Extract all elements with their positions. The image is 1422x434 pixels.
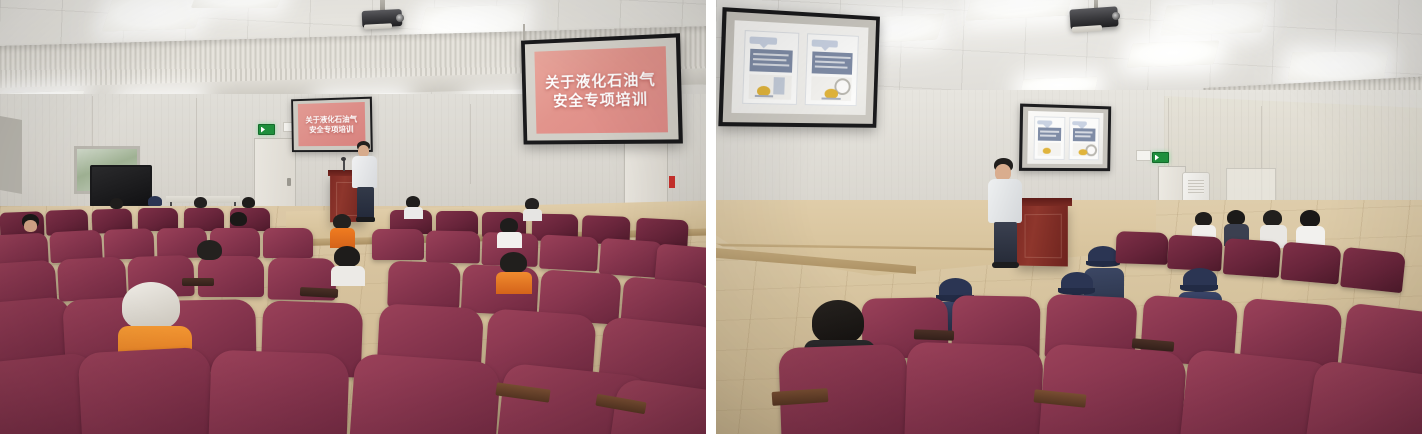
aux-panel-1-illustration [1038,143,1061,156]
attendee [523,198,543,218]
ceiling-light-4 [1127,41,1220,68]
presenter-shoes [992,262,1019,268]
illus-stand [755,95,773,97]
seat[interactable] [599,238,663,278]
presenter-shoes [356,217,375,222]
attendee-vest [330,228,355,248]
presenter-shirt [988,179,1022,223]
gas-cylinder-icon [1043,148,1051,154]
seat[interactable] [78,347,215,434]
illus-stand [821,97,840,99]
slide-panel-2 [805,33,859,106]
seat[interactable] [778,344,909,434]
attendee-hair [812,300,864,344]
ceiling-light-5 [1288,52,1389,80]
wall-seam-2 [196,98,197,204]
aux-slide: 关于液化石油气 安全专项培训 [298,102,366,146]
attendee-hair [1263,210,1282,226]
presenter-right [988,158,1026,270]
ceiling-light-1 [102,0,206,32]
attendee [194,240,228,274]
exit-sign-icon [1152,152,1169,163]
attendee [192,197,210,213]
aux-panel-1-text [1038,127,1061,141]
attendee-shirt [497,232,522,248]
projector-lens [396,14,404,22]
seat[interactable] [1340,247,1406,293]
attendee-hair [197,240,222,260]
attendee-shirt [404,207,423,219]
slide-panel-1 [742,30,799,105]
attendee-hair [194,197,207,208]
photo-pair-composite: 关于液化石油气 安全专项培训 关于液化石油气 安全专项培训 [0,0,1422,434]
slide-panel-2-banner [812,39,838,47]
ceiling-light-3 [1160,2,1267,35]
aux-slide [1027,111,1103,164]
attendee-hair [334,246,360,267]
attendee [228,212,252,236]
attendee-cap [148,196,162,206]
microphone-stem [343,160,345,171]
aux-panel-2-illustration [1073,143,1096,156]
seat[interactable] [1115,231,1168,265]
attendee-hair-white [122,282,180,330]
seat[interactable] [263,228,313,258]
seat[interactable] [387,261,461,309]
aux-panel-2-banner [1072,121,1087,125]
attendee [497,218,523,246]
attendee-hair [500,252,527,273]
attendee-hair [500,218,518,233]
slide-panel-1-banner [750,36,778,44]
exit-sign-icon [258,124,275,135]
slide-panel-1-illustration [749,74,792,99]
photo-left: 关于液化石油气 安全专项培训 关于液化石油气 安全专项培训 [0,0,706,434]
attendee-hair [230,212,247,226]
attendee [240,197,258,213]
presenter-trousers [994,222,1017,264]
screen-hanger-rod [523,24,525,40]
attendee [108,198,126,214]
attendee-hair [110,198,123,209]
podium-front-panel [1025,214,1062,259]
projector-lens [1112,12,1120,20]
presenter-shirt [352,156,377,188]
main-slide [731,20,868,115]
attendee-cap-brim [1180,285,1218,292]
air-conditioner-vent [1188,180,1204,194]
seat[interactable] [1167,235,1223,272]
attendee [20,214,44,238]
aux-panel-1-banner [1037,120,1052,124]
attendee-shirt [523,209,542,221]
gas-cylinder-icon [1079,149,1088,155]
armrest [914,329,954,340]
aux-slide-panel-1 [1033,116,1065,160]
seat[interactable] [1280,242,1341,285]
main-projection-screen-frame: 关于液化石油气 安全专项培训 [521,33,683,144]
attendee-hair [333,214,351,229]
seat[interactable] [208,350,349,434]
ceiling-light-3 [191,0,288,8]
wall-seam-3 [470,104,471,184]
main-slide-title-line-2: 安全专项培训 [553,90,648,111]
slide-panel-1-text [750,49,793,73]
seat[interactable] [904,342,1043,434]
microphone-head [341,157,346,161]
attendee-cap-brim [1086,261,1120,267]
attendee [146,196,164,212]
seat[interactable] [1223,238,1281,278]
presenter-left [352,141,380,223]
seat[interactable] [349,353,501,434]
attendee [496,252,534,294]
attendee-hair [1227,210,1245,225]
main-slide: 关于液化石油气 安全专项培训 [534,46,668,133]
aux-slide-panel-2 [1069,117,1100,160]
attendee [331,246,367,288]
attendee-hair [1300,210,1320,227]
photo-right [716,0,1422,434]
attendee-head [24,220,37,232]
seat[interactable] [426,231,481,264]
seat[interactable] [539,235,599,272]
main-projection-screen-frame [718,7,880,128]
aux-slide-title-line-2: 安全专项培训 [309,124,353,134]
attendee-vest [496,272,532,294]
seat[interactable] [103,228,154,260]
seat[interactable] [372,229,424,260]
seat[interactable] [1039,343,1187,434]
attendee [404,196,424,216]
armrest [300,287,338,298]
door-handle[interactable] [287,178,291,186]
illus-bar [773,77,785,94]
slide-panel-2-text [812,51,853,74]
aux-panel-2-text [1073,128,1096,141]
slide-panel-2-illustration [811,76,852,101]
armrest [182,278,214,286]
presenter-trousers [357,187,374,219]
attendee-shirt [331,266,365,286]
seat[interactable] [57,256,127,302]
aux-projection-screen-frame [1019,104,1111,172]
wall-notice-plaque [1136,150,1151,161]
attendee-hair [242,197,255,208]
window-sash-left [0,116,22,194]
wall-notice-red [669,176,675,188]
attendee-hair [1195,212,1212,226]
